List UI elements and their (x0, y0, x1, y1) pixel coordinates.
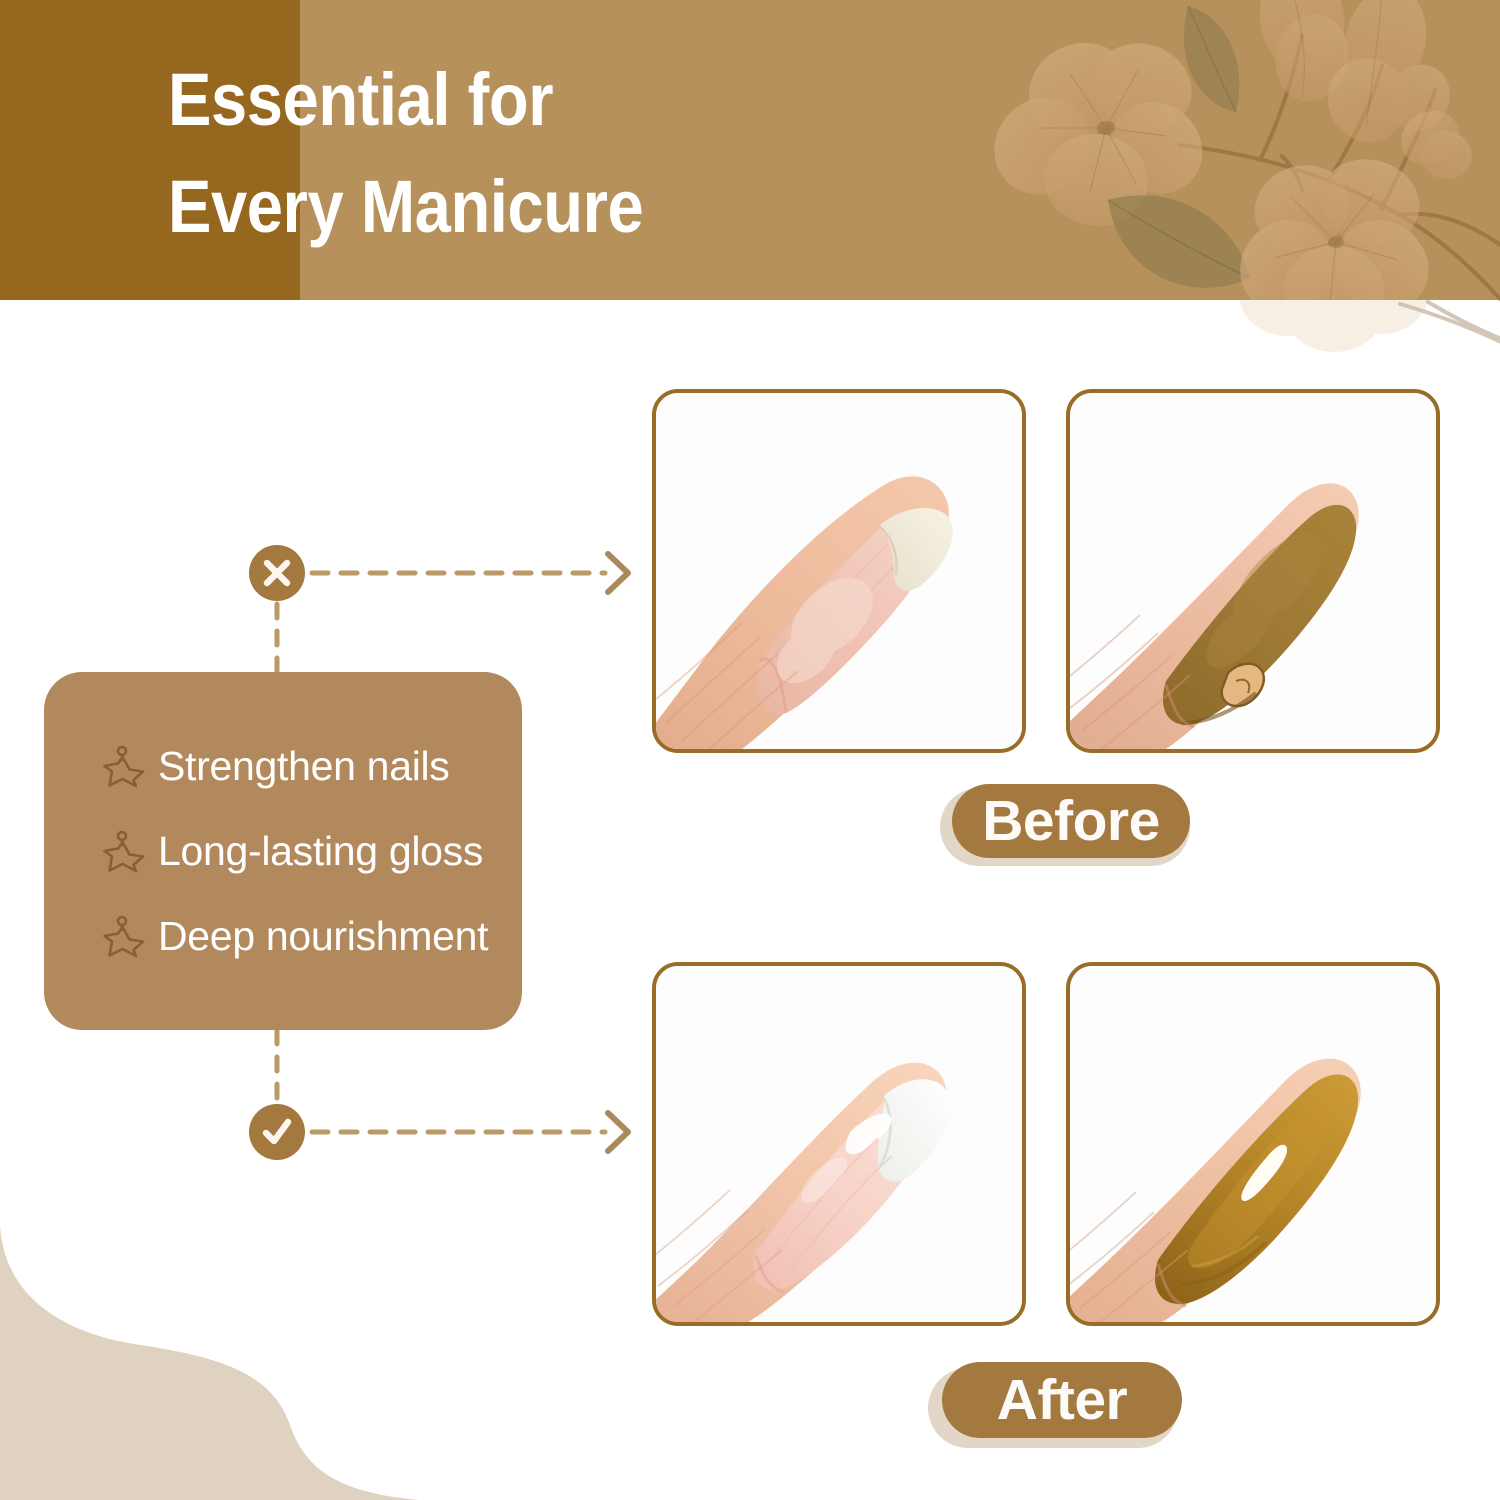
star-charm-icon (102, 829, 146, 873)
before-badge: Before (940, 784, 1190, 866)
list-item: Deep nourishment (102, 913, 522, 960)
page-title: Essential for Every Manicure (168, 46, 837, 261)
decorative-wave-shape (0, 1225, 420, 1500)
after-badge-inner: After (942, 1362, 1182, 1438)
list-item-label: Deep nourishment (158, 913, 488, 960)
negative-marker (249, 545, 305, 601)
list-item-label: Strengthen nails (158, 743, 450, 790)
after-badge-label: After (997, 1367, 1128, 1433)
after-badge: After (928, 1362, 1188, 1448)
header-banner: Essential for Every Manicure (0, 0, 1500, 300)
star-charm-icon (102, 914, 146, 958)
before-badge-inner: Before (952, 784, 1190, 858)
poster-canvas: Essential for Every Manicure (0, 0, 1500, 1500)
after-photo-french-manicure (652, 962, 1026, 1326)
list-item-label: Long-lasting gloss (158, 828, 483, 875)
benefits-card: Strengthen nails Long-lasting gloss Deep… (44, 672, 522, 1030)
star-charm-icon (102, 744, 146, 788)
before-photo-chipped-polish (1066, 389, 1440, 753)
after-photo-glossy-caramel-nail (1066, 962, 1440, 1326)
list-item: Strengthen nails (102, 743, 522, 790)
list-item: Long-lasting gloss (102, 828, 522, 875)
before-photo-natural-nail (652, 389, 1026, 753)
positive-marker (249, 1104, 305, 1160)
before-badge-label: Before (982, 788, 1160, 854)
check-icon (259, 1114, 295, 1150)
cross-icon (260, 556, 294, 590)
